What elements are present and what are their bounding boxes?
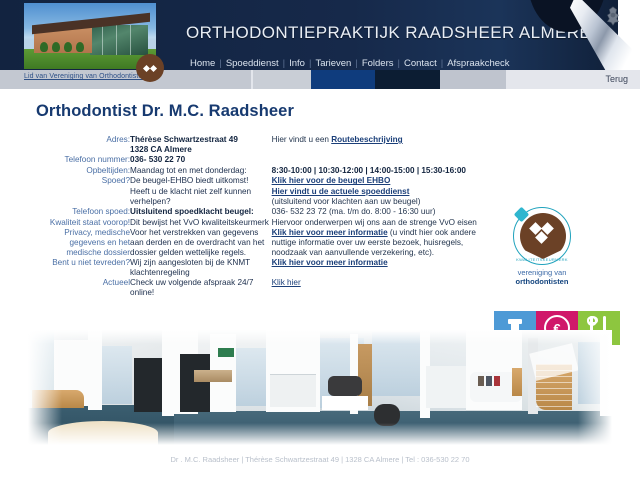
row-middle: Dit bewijst het VvO kwaliteitskeurmerk [130,218,272,229]
appointment-check-link[interactable]: Klik hier [272,278,301,287]
row-right: 036- 532 23 72 (ma. t/m do. 8:00 - 16:30… [272,207,486,218]
row-right: Klik hier [272,278,486,298]
row-middle: Voor het verstrekken van gegevens aan de… [130,228,272,258]
vvo-seal-icon: KWALITEITSKEURMERK [513,207,571,265]
table-row: Kwaliteit staat voorop! Dit bewijst het … [36,218,486,229]
nav-item-afspraakcheck[interactable]: Afspraakcheck [443,58,513,69]
nav-item-tarieven[interactable]: Tarieven [311,58,355,69]
nav-item-contact[interactable]: Contact [400,58,441,69]
vvo-membership-link[interactable]: Lid van Vereniging van Orthodontisten [24,73,146,80]
row-middle: Heeft u de klacht niet zelf kunnen verhe… [130,187,272,207]
vvo-caption: vereniging van orthodontisten [503,268,581,286]
nav-item-home[interactable]: Home [186,58,219,69]
table-row: Bent u niet tevreden? Wij zijn aangeslot… [36,258,486,278]
row-label: Adres: [36,135,130,155]
address-line-2: 1328 CA Almere [130,145,192,154]
privacy-info-link[interactable]: Klik hier voor meer informatie [272,228,388,237]
row-label: Telefoon nummer: [36,155,130,166]
vvo-logo[interactable]: KWALITEITSKEURMERK vereniging van orthod… [503,207,581,286]
strip-segment [253,70,313,89]
nav-item-info[interactable]: Info [285,58,309,69]
row-middle: Uitsluitend spoedklacht beugel: [130,207,272,218]
row-middle: Check uw volgende afspraak 24/7 online! [130,278,272,298]
spoeddienst-link[interactable]: Hier vindt u de actuele spoeddienst [272,187,410,196]
row-right: Klik hier voor de beugel EHBO [272,176,486,187]
row-right: Hier vindt u een Routebeschrijving [272,135,486,155]
table-row: Privacy, medische gegevens en het medisc… [36,228,486,258]
table-row: Heeft u de klacht niet zelf kunnen verhe… [36,187,486,207]
practice-info-table: Adres: Thérèse Schwartzestraat 49 1328 C… [36,135,486,299]
spoeddienst-note: (uitsluitend voor klachten aan uw beugel… [272,197,421,206]
complaints-info-link[interactable]: Klik hier voor meer informatie [272,258,388,267]
row-middle: Maandag tot en met donderdag: [130,166,272,177]
row-right: Hiervoor onderwerpen wij ons aan de stre… [272,218,486,229]
emergency-phone-value: 036- 532 23 72 (ma. t/m do. 8:00 - 16:30… [272,207,436,216]
page-root: ORTHODONTIEPRAKTIJK RAADSHEER ALMERE Hom… [0,0,640,480]
emergency-label-value: Uitsluitend spoedklacht beugel: [130,207,254,216]
route-prefix-text: Hier vindt u een [272,135,332,144]
table-row: Actueel Check uw volgende afspraak 24/7 … [36,278,486,298]
main-navigation[interactable]: Home|Spoeddienst|Info|Tarieven|Folders|C… [186,53,514,70]
page-curl-decoration [528,0,640,70]
vvo-badge-icon [136,54,164,82]
row-label [36,187,130,207]
address-line-1: Thérèse Schwartzestraat 49 [130,135,238,144]
row-label: Privacy, medische gegevens en het medisc… [36,228,130,258]
quality-text: Hiervoor onderwerpen wij ons aan de stre… [272,218,477,227]
row-label: Opbeltijden: [36,166,130,177]
row-label: Spoed? [36,176,130,187]
back-link[interactable]: Terug [605,74,628,84]
row-middle: 036- 530 22 70 [130,155,272,166]
table-row: Telefoon spoed: Uitsluitend spoedklacht … [36,207,486,218]
row-right: 8:30-10:00 | 10:30-12:00 | 14:00-15:00 |… [272,166,486,177]
strip-segment [375,70,440,89]
main-content: Orthodontist Dr. M.C. Raadsheer Adres: T… [0,89,640,330]
row-middle: Wij zijn aangesloten bij de KNMT klachte… [130,258,272,278]
nav-item-folders[interactable]: Folders [358,58,398,69]
row-label: Actueel [36,278,130,298]
vvo-arc-text: KWALITEITSKEURMERK [514,257,570,262]
table-row: Telefoon nummer: 036- 530 22 70 [36,155,486,166]
practice-photo-band [28,330,612,445]
table-row: Opbeltijden: Maandag tot en met donderda… [36,166,486,177]
page-title: Orthodontist Dr. M.C. Raadsheer [36,102,294,121]
row-middle: De beugel-EHBO biedt uitkomst! [130,176,272,187]
vvo-caption-line1: vereniging van [518,268,567,277]
site-footer: Dr . M.C. Raadsheer | Thérèse Schwartzes… [0,455,640,480]
nav-item-spoeddienst[interactable]: Spoeddienst [222,58,283,69]
row-right: Hier vindt u de actuele spoeddienst (uit… [272,187,486,207]
row-middle: Thérèse Schwartzestraat 49 1328 CA Almer… [130,135,272,155]
table-row: Adres: Thérèse Schwartzestraat 49 1328 C… [36,135,486,155]
routebeschrijving-link[interactable]: Routebeschrijving [331,135,402,144]
praktijk-building-photo [24,3,156,69]
table-row: Spoed? De beugel-EHBO biedt uitkomst! Kl… [36,176,486,187]
beugel-ehbo-link[interactable]: Klik hier voor de beugel EHBO [272,176,391,185]
sub-header-strip: Lid van Vereniging van Orthodontisten Te… [0,70,640,89]
row-label: Bent u niet tevreden? [36,258,130,278]
coat-of-arms-emblem [602,5,624,27]
calling-hours-value: 8:30-10:00 | 10:30-12:00 | 14:00-15:00 |… [272,166,466,175]
row-right: Klik hier voor meer informatie (u vindt … [272,228,486,258]
row-label: Telefoon spoed: [36,207,130,218]
vvo-caption-line2: orthodontisten [516,277,569,286]
row-right [272,155,486,166]
row-right: Klik hier voor meer informatie [272,258,486,278]
phone-number-value: 036- 530 22 70 [130,155,185,164]
strip-segment [311,70,375,89]
site-header: ORTHODONTIEPRAKTIJK RAADSHEER ALMERE Hom… [0,0,640,70]
row-label: Kwaliteit staat voorop! [36,218,130,229]
strip-segment [440,70,506,89]
footer-text: Dr . M.C. Raadsheer | Thérèse Schwartzes… [0,455,640,464]
